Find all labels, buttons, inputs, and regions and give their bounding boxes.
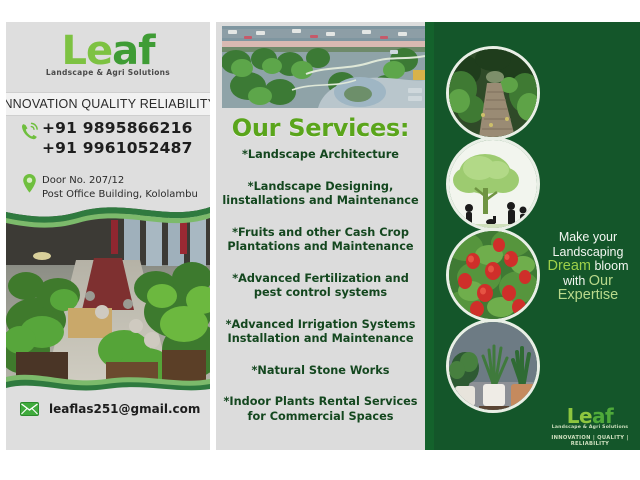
service-item: *Advanced Fertilization and pest control… [216,272,425,301]
potted-indoor-plants-photo [446,319,540,413]
service-item: *Natural Stone Works [216,364,425,379]
email-row[interactable]: leaflas251@gmail.com [6,402,210,416]
right-panel-tagline: Make your Landscaping Dream bloom with O… [540,230,636,303]
phone-numbers: +91 9895866216 +91 9961052487 [42,118,193,158]
envelope-icon [20,402,39,416]
tagline-line-2: Landscaping [540,245,636,260]
footer-logo-wordmark: Leaf [542,406,638,427]
service-item: *Fruits and other Cash Crop Plantations … [216,226,425,255]
wave-border-bottom [6,365,210,395]
tagline-accent-expertise: Expertise [540,288,636,303]
footer-values: INNOVATION | QUALITY | RELIABILITY [542,435,638,447]
values-bar: INNOVATION QUALITY RELIABILITY [6,92,210,116]
tree-silhouette-illustration [446,137,540,231]
tagline-line-1: Make your [540,230,636,245]
service-item: *Landscape Architecture [216,148,425,163]
brochure-canvas: Leaf Landscape & Agri Solutions INNOVATI… [0,0,640,480]
showroom-photo-frame [6,200,210,395]
tagline-line-3: Dream bloom [540,259,636,274]
services-heading: Our Services: [216,114,425,142]
service-item: *Indoor Plants Rental Services for Comme… [216,395,425,424]
aerial-landscape-architecture-photo [222,26,425,108]
phone-row: +91 9895866216 +91 9961052487 [6,118,210,158]
wave-border-top [6,200,210,230]
phone-number-1: +91 9895866216 [42,118,193,138]
phone-icon [16,118,42,142]
right-panel: Make your Landscaping Dream bloom with O… [434,22,640,450]
center-panel-green-edge [425,22,434,450]
tagline-line-4: with Our [540,274,636,289]
logo-subtitle: Landscape & Agri Solutions [6,68,210,77]
location-pin-icon [16,170,42,194]
footer-logo: Leaf Landscape & Agri Solutions INNOVATI… [542,406,638,447]
logo-wordmark: Leaf [6,30,210,72]
garden-pathway-photo [446,46,540,140]
company-logo: Leaf Landscape & Agri Solutions [6,30,210,77]
tagline-bloom: bloom [591,259,629,273]
email-address: leaflas251@gmail.com [49,402,200,416]
service-item: *Landscape Designing, linstallations and… [216,180,425,209]
center-panel: Our Services: *Landscape Architecture *L… [216,22,434,450]
tagline-accent-dream: Dream [547,258,591,274]
red-fruit-harvest-photo [446,228,540,322]
left-panel: Leaf Landscape & Agri Solutions INNOVATI… [6,22,210,450]
brochure-sheet: Leaf Landscape & Agri Solutions INNOVATI… [6,22,640,450]
service-item: *Advanced Irrigation Systems Installatio… [216,318,425,347]
tagline-with: with [563,274,589,288]
address-line-1: Door No. 207/12 [42,174,210,188]
footer-logo-subtitle: Landscape & Agri Solutions [542,425,638,430]
services-list: *Landscape Architecture *Landscape Desig… [216,148,425,441]
values-bar-text: INNOVATION QUALITY RELIABILITY [6,97,210,111]
phone-number-2: +91 9961052487 [42,138,193,158]
